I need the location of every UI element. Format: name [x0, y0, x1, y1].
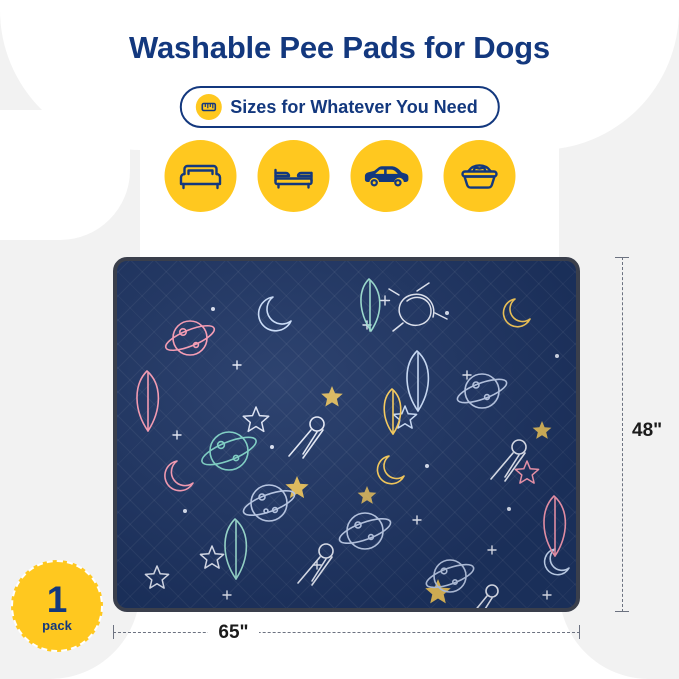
use-case-icon-row	[164, 140, 515, 212]
ruler-icon	[195, 94, 221, 120]
pad-sheen	[117, 261, 576, 608]
product-infographic: Washable Pee Pads for Dogs Sizes for Wha…	[0, 0, 679, 679]
car-icon	[350, 140, 422, 212]
page-title: Washable Pee Pads for Dogs	[0, 30, 679, 66]
pee-pad-surface	[113, 257, 580, 612]
bed-icon	[257, 140, 329, 212]
width-dimension-text: 65"	[208, 622, 258, 643]
height-dimension-label: 48"	[632, 420, 662, 442]
dog-bowl-icon	[443, 140, 515, 212]
height-dimension-line	[615, 257, 629, 612]
subtitle-text: Sizes for Whatever You Need	[230, 97, 477, 118]
sofa-icon	[164, 140, 236, 212]
product-image	[113, 257, 580, 612]
subtitle-pill: Sizes for Whatever You Need	[179, 86, 499, 128]
pack-count: 1	[47, 581, 68, 618]
pack-unit: pack	[42, 619, 72, 632]
pack-badge: 1 pack	[11, 560, 103, 652]
